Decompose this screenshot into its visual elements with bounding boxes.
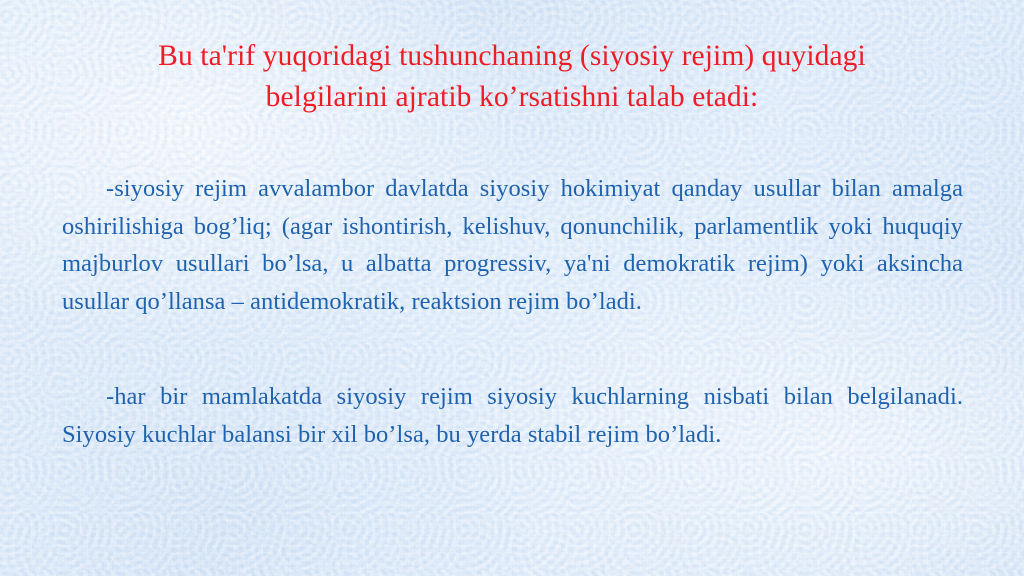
- slide-title-line-2: belgilarini ajratib ko’rsatishni talab e…: [62, 77, 962, 118]
- slide-title-line-1: Bu ta'rif yuqoridagi tushunchaning (siyo…: [62, 36, 962, 77]
- slide-title: Bu ta'rif yuqoridagi tushunchaning (siyo…: [62, 36, 962, 118]
- slide-body: -siyosiy rejim avvalambor davlatda siyos…: [62, 170, 963, 454]
- slide-content: Bu ta'rif yuqoridagi tushunchaning (siyo…: [0, 0, 1024, 576]
- body-paragraph-1: -siyosiy rejim avvalambor davlatda siyos…: [62, 170, 963, 320]
- presentation-slide: Bu ta'rif yuqoridagi tushunchaning (siyo…: [0, 0, 1024, 576]
- body-paragraph-2: -har bir mamlakatda siyosiy rejim siyosi…: [62, 378, 963, 453]
